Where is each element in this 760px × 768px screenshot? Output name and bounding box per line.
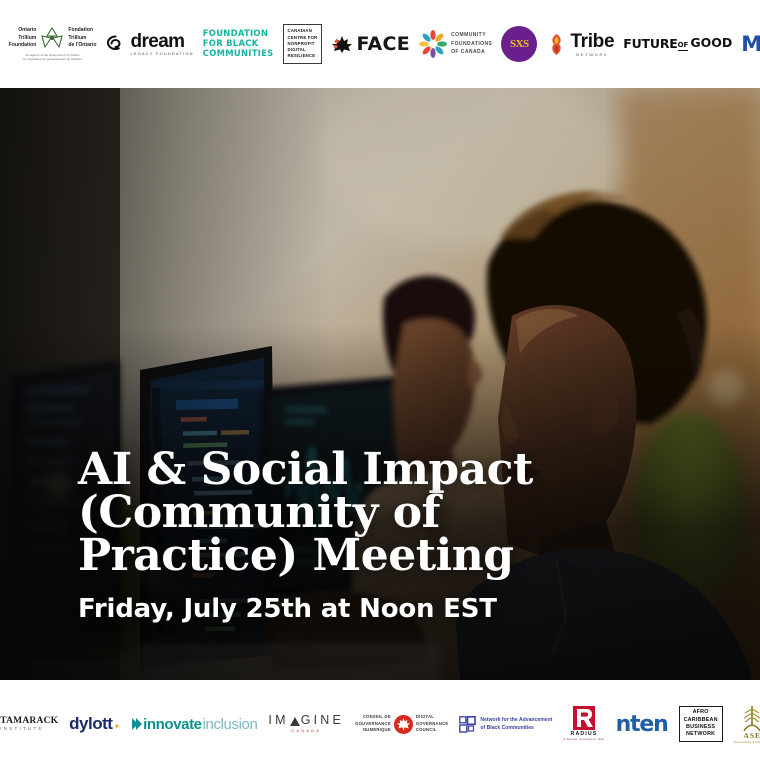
sxs-wordmark: SXS [510, 38, 529, 50]
logo-foundation-for-black-communities: FOUNDATIONFOR BLACKCOMMUNITIES [203, 29, 274, 59]
logo-future-of-good: FUTURE OF GOOD [623, 37, 732, 50]
logo-ase-community-foundation: ASE Community Foundation [734, 705, 760, 744]
ase-wordmark: ASE [743, 731, 760, 740]
radius-subtext: A Social Innovation Hub [563, 738, 604, 742]
future-of-good-line1: FUTURE [623, 38, 677, 51]
logo-imagine-canada: IM GINE CANADA [268, 714, 344, 733]
dgc-english-text: DIGITALGOVERNANCECOUNCIL [416, 714, 449, 734]
logo-digital-governance-council: CONSEIL DEGOUVERNANCENUMERIQUE DIGITALGO… [355, 714, 448, 734]
dream-cloud-icon [105, 35, 126, 52]
imagine-triangle-icon [290, 717, 300, 726]
tribe-adinkra-icon [546, 33, 567, 56]
logo-community-foundations-of-canada: COMMUNITYFOUNDATIONSOF CANADA [419, 30, 492, 58]
future-of-good-line2: GOOD [690, 37, 732, 50]
logo-dylott: dylott ✦ [69, 714, 120, 734]
maple-leaf-icon [331, 35, 353, 54]
logo-network-advancement-black-communities: Network for the Advancementof Black Comm… [459, 716, 552, 733]
logo-mars: MaRS [741, 32, 760, 56]
imagine-prefix: IM [268, 714, 288, 728]
logo-ontario-trillium-foundation: OntarioTrilliumFoundation FondationTrill… [9, 27, 97, 62]
dylott-star-icon: ✦ [113, 722, 120, 731]
dgc-maple-leaf-circle-icon [394, 715, 413, 734]
colorful-burst-icon [419, 30, 447, 58]
logo-radius: RADIUS A Social Innovation Hub [563, 706, 604, 742]
innovate-chevron-icon [131, 717, 142, 731]
bottom-sponsor-logo-bar: TAMARACK INSTITUTE dylott ✦ innovate inc… [0, 680, 760, 768]
imagine-canada-subtext: CANADA [291, 729, 321, 733]
logo-sxs: SXS [501, 26, 537, 62]
trillium-flower-icon [39, 27, 65, 51]
logo-tribe-network: Tribe NETWORK [546, 32, 614, 57]
logo-face: FACE [331, 33, 410, 55]
sxs-circle-icon: SXS [501, 26, 537, 62]
dylott-wordmark: dylott [69, 714, 112, 734]
imagine-suffix: GINE [301, 714, 344, 728]
tamarack-subtext: INSTITUTE [0, 727, 58, 732]
otf-french-text: FondationTrilliumde l'Ontario [68, 27, 96, 51]
event-copy-block: AI & Social Impact (Community of Practic… [78, 448, 678, 624]
ase-subtext: Community Foundation [734, 740, 760, 744]
nabc-squares-icon [459, 716, 476, 733]
radius-r-icon [573, 706, 595, 730]
logo-tamarack-institute: TAMARACK INSTITUTE [0, 716, 58, 732]
top-sponsor-logo-bar: SETSI OntarioTrilliumFoundation Fond [0, 0, 760, 88]
cfc-wordmark: COMMUNITYFOUNDATIONSOF CANADA [451, 31, 492, 57]
inclusion-word: inclusion [203, 716, 258, 733]
event-datetime: Friday, July 25th at Noon EST [78, 594, 678, 624]
future-of-good-of: OF [678, 42, 689, 50]
tribe-subtext: NETWORK [570, 53, 614, 57]
face-wordmark: FACE [356, 33, 410, 55]
dream-wordmark: dream [130, 32, 193, 51]
innovate-word: innovate [143, 716, 201, 733]
otf-english-text: OntarioTrilliumFoundation [9, 27, 37, 51]
logo-dream-legacy-foundation: dream LEGACY FOUNDATION [105, 32, 193, 57]
headline-line-3: Practice) Meeting [78, 534, 678, 577]
otf-fine-print: An agency of the Government of OntarioUn… [23, 53, 82, 62]
logo-innovate-inclusion: innovate inclusion [131, 716, 257, 733]
page-title: AI & Social Impact (Community of Practic… [78, 448, 678, 577]
headline-line-2: (Community of [78, 491, 678, 534]
nabc-wordmark: Network for the Advancementof Black Comm… [480, 716, 552, 733]
headline-line-1: AI & Social Impact [78, 448, 678, 491]
logo-afro-caribbean-business-network: AFROCARIBBEANBUSINESSNETWORK [679, 706, 723, 741]
dgc-french-text: CONSEIL DEGOUVERNANCENUMERIQUE [355, 714, 391, 734]
logo-canadian-centre-nonprofit-digital-resilience: CANADIANCENTRE FORNONPROFITDIGITALRESILI… [283, 24, 323, 63]
event-announcement-poster: SETSI OntarioTrilliumFoundation Fond [0, 0, 760, 768]
tribe-wordmark: Tribe [570, 32, 614, 51]
ase-tree-icon [739, 705, 760, 732]
dream-tagline: LEGACY FOUNDATION [130, 53, 193, 57]
logo-nten: nten [616, 712, 668, 737]
